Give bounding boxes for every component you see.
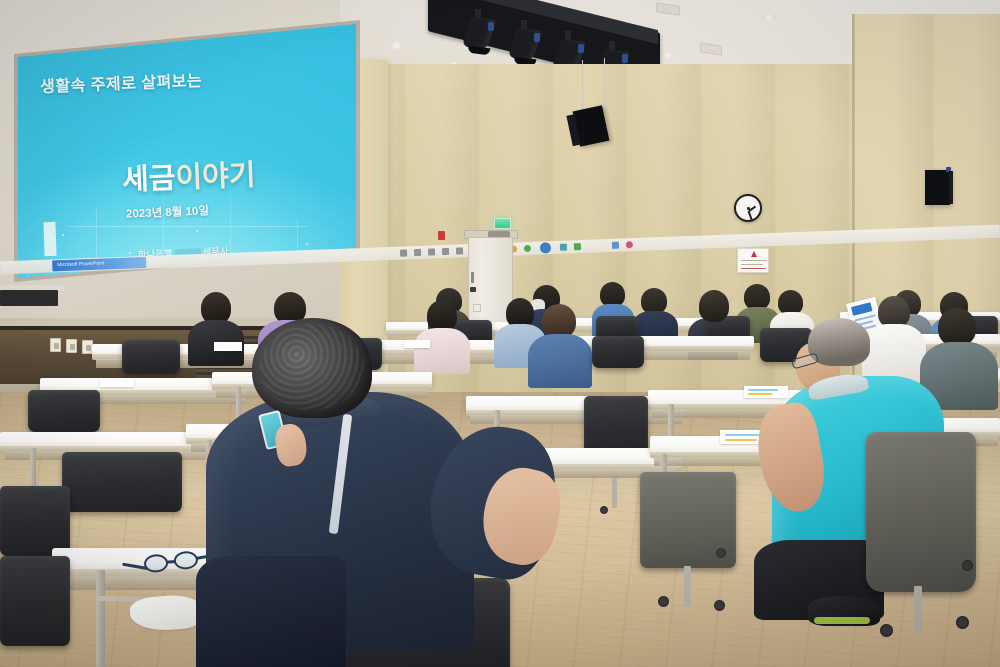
- taskbar-icon[interactable]: [428, 248, 435, 255]
- ceiling-downlight: [762, 14, 776, 21]
- emergency-exit-sign: [494, 218, 511, 229]
- head: [699, 290, 729, 322]
- slide-subtitle: 생활속 주제로 살펴보는: [40, 63, 311, 97]
- slide-title-secondary: 이야기: [175, 159, 256, 194]
- taskbar-start-label: Microsoft PowerPoint: [52, 257, 146, 271]
- notice-emblem-icon: [751, 251, 757, 257]
- spotlight-knob: [578, 44, 584, 53]
- ac-vent: [0, 290, 58, 306]
- speaker-cable-right: [604, 58, 605, 110]
- chair-caster: [956, 616, 969, 629]
- chair-row2[interactable]: [592, 336, 644, 368]
- taskbar-icon-active[interactable]: [540, 242, 551, 253]
- ceiling-downlight: [662, 52, 674, 58]
- taskbar-icon[interactable]: [414, 249, 421, 256]
- hair-curly: [252, 318, 372, 418]
- wall-clock-icon: [734, 194, 762, 222]
- light-switch[interactable]: [473, 304, 481, 312]
- taskbar-icon[interactable]: [524, 245, 531, 252]
- wall-notice-sign: [737, 248, 769, 273]
- chair-row3[interactable]: [28, 390, 100, 432]
- ceiling-downlight: [390, 42, 403, 49]
- chair-row4-left[interactable]: [62, 452, 182, 512]
- chair-foreground-left[interactable]: [0, 556, 70, 646]
- power-outlet[interactable]: [50, 338, 61, 352]
- worksheet: [744, 386, 788, 398]
- spotlight-2: [512, 29, 538, 63]
- clock-minute-hand: [748, 211, 753, 222]
- shoe: [808, 596, 880, 626]
- chair-row4-far-left[interactable]: [0, 486, 70, 556]
- taskbar-icon[interactable]: [560, 244, 567, 251]
- taskbar-start-button[interactable]: Microsoft PowerPoint: [52, 257, 146, 271]
- spotlight-knob: [488, 22, 494, 31]
- chair-caster: [714, 600, 725, 611]
- seminar-room-photo: 생활속 주제로 살펴보는 세금이야기 2023년 8월 10일 하나은행세무사 …: [0, 0, 1000, 667]
- attendee-man-grey-polo: [686, 290, 742, 360]
- chair-caster: [962, 560, 973, 571]
- chair-caster: [658, 596, 669, 607]
- projection-screen: 생활속 주제로 살펴보는 세금이야기 2023년 8월 10일 하나은행세무사: [18, 24, 356, 278]
- spotlight-1: [466, 18, 492, 52]
- taskbar-icon[interactable]: [612, 242, 619, 249]
- speaker-cable-left: [582, 60, 583, 110]
- slide-title: 세금이야기: [121, 147, 356, 198]
- chair-caster: [880, 624, 893, 637]
- trousers-foreground: [196, 556, 346, 667]
- wall-mounted-speaker: [925, 170, 950, 205]
- chair-row2[interactable]: [122, 340, 180, 374]
- chair-post: [914, 586, 922, 632]
- paper-on-desk: [214, 342, 242, 351]
- clock-center-pin: [747, 207, 750, 210]
- spotlight-knob: [622, 54, 628, 63]
- chair-caster: [716, 548, 726, 558]
- taskbar-icon[interactable]: [456, 247, 463, 254]
- taskbar-icon[interactable]: [442, 248, 449, 255]
- door-lock-icon: [470, 287, 476, 292]
- chair-teal-man[interactable]: [866, 432, 976, 592]
- desk-leg: [96, 570, 105, 667]
- attendee-man-navy-shirt: [632, 288, 676, 340]
- door-handle[interactable]: [471, 272, 474, 283]
- chair-caster: [600, 506, 608, 514]
- fire-alarm-icon: [438, 231, 445, 240]
- slide-date: 2023년 8월 10일: [126, 202, 209, 221]
- speaker-bracket: [946, 167, 951, 172]
- taskbar-icon[interactable]: [574, 243, 581, 250]
- screen-edge-marker-left: [43, 222, 56, 256]
- taskbar-icon[interactable]: [400, 249, 407, 256]
- power-outlet[interactable]: [66, 339, 77, 353]
- chair-post: [684, 566, 691, 606]
- taskbar-icon[interactable]: [626, 241, 633, 248]
- spotlight-knob: [534, 33, 540, 42]
- paper-on-desk: [100, 378, 134, 387]
- slide-title-primary: 세금: [122, 163, 177, 197]
